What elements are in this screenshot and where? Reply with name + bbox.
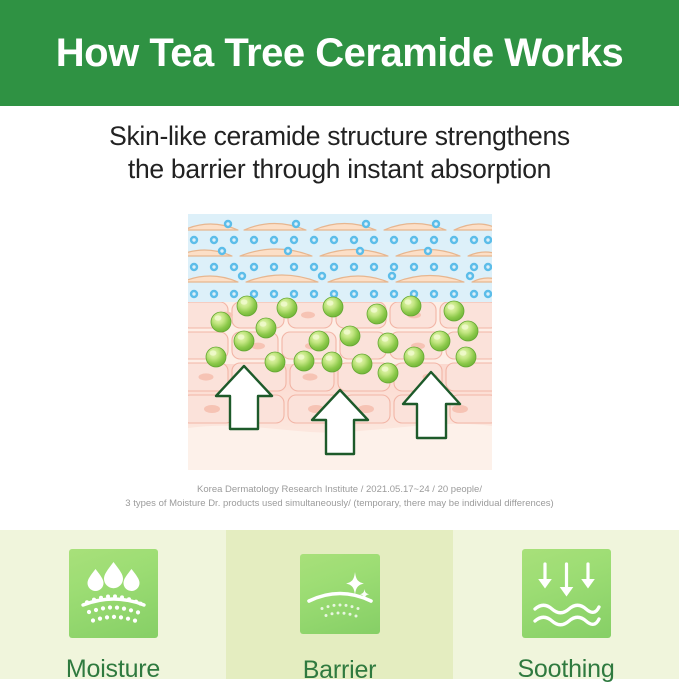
skin-barrier-sparkle-icon bbox=[300, 554, 380, 634]
benefit-label-barrier: Barrier bbox=[303, 656, 377, 684]
subtitle-line-1: Skin-like ceramide structure strengthens bbox=[0, 120, 679, 153]
water-droplets-on-skin-icon bbox=[69, 549, 158, 638]
skin-cross-section-illustration bbox=[188, 214, 492, 470]
down-arrows-waves-icon bbox=[522, 549, 611, 638]
product-infographic-page: How Tea Tree Ceramide Works Skin-like ce… bbox=[0, 0, 679, 679]
study-caption: Korea Dermatology Research Institute / 2… bbox=[0, 483, 679, 510]
benefit-panel-barrier: Barrier bbox=[226, 530, 453, 679]
benefit-panel-soothing: Soothing bbox=[453, 530, 679, 679]
benefits-strip: Moisture bbox=[0, 530, 679, 679]
subtitle-block: Skin-like ceramide structure strengthens… bbox=[0, 120, 679, 186]
caption-line-2: 3 types of Moisture Dr. products used si… bbox=[0, 497, 679, 511]
subtitle-line-2: the barrier through instant absorption bbox=[0, 153, 679, 186]
page-title: How Tea Tree Ceramide Works bbox=[56, 33, 623, 73]
caption-line-1: Korea Dermatology Research Institute / 2… bbox=[0, 483, 679, 497]
header-banner: How Tea Tree Ceramide Works bbox=[0, 0, 679, 106]
benefit-panel-moisture: Moisture bbox=[0, 530, 226, 679]
